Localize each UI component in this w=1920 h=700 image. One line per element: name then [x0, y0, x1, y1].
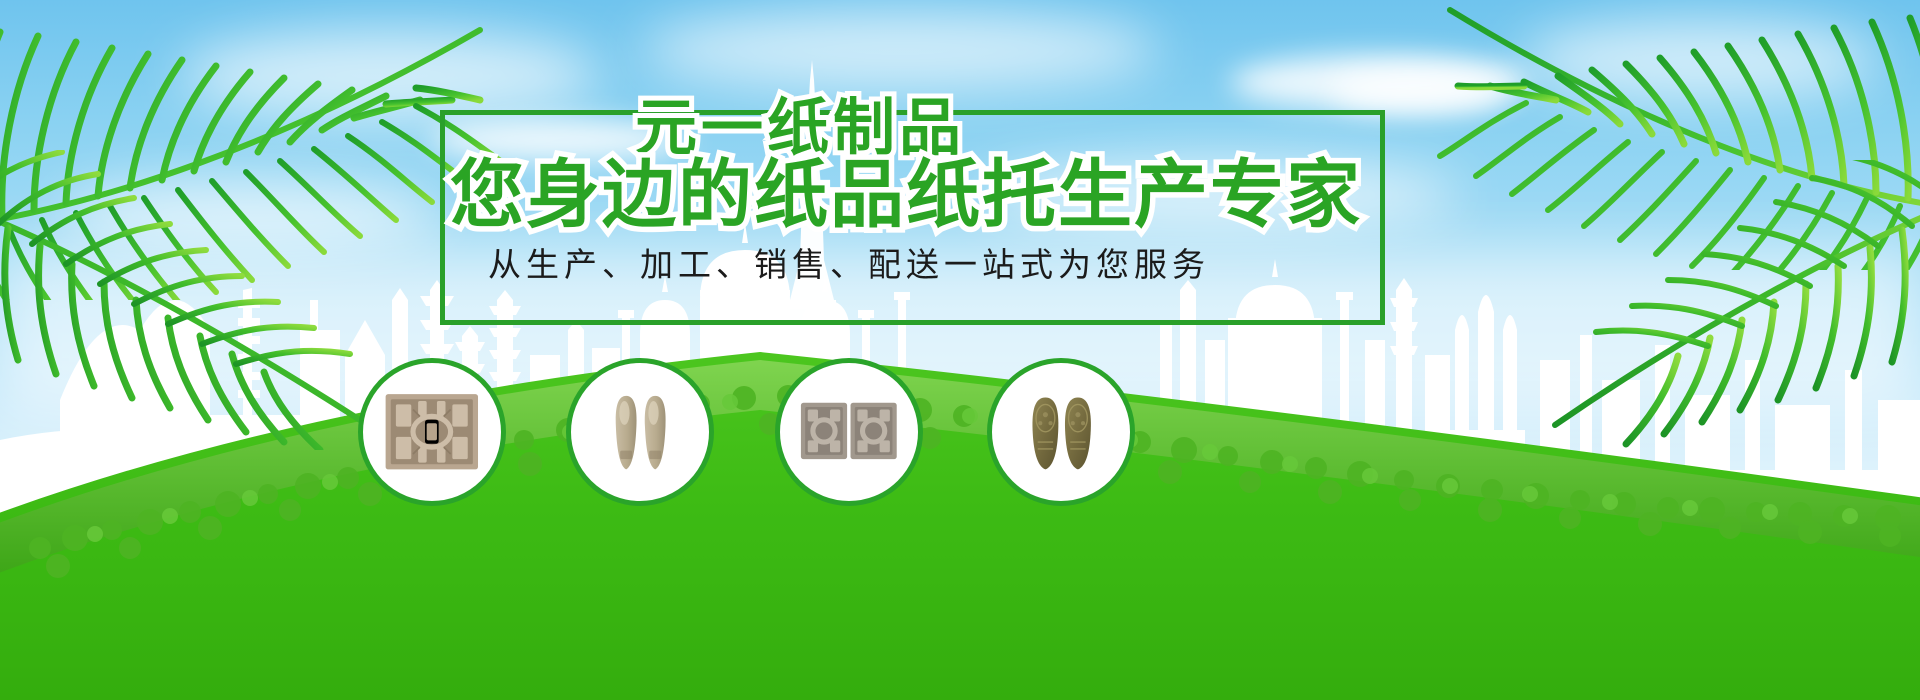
headline-text: 您身边的纸品纸托生产专家 — [450, 153, 1362, 237]
product-circle-2[interactable] — [566, 358, 714, 506]
molded-pulp-dual-corner-trays-icon — [795, 389, 903, 475]
product-circle-4[interactable] — [987, 358, 1135, 506]
product-circle-3[interactable] — [775, 358, 923, 506]
molded-pulp-dark-shoe-trees-icon — [1007, 389, 1115, 475]
palm-frond-icon — [1550, 160, 1920, 460]
subtitle-text: 从生产、加工、销售、配送一站式为您服务 — [488, 243, 1210, 287]
molded-pulp-shoe-trees-icon — [586, 389, 694, 475]
product-circle-1[interactable] — [358, 358, 506, 506]
promo-banner: 元一纸制品 您身边的纸品纸托生产专家 从生产、加工、销售、配送一站式为您服务 — [0, 0, 1920, 700]
palm-frond-icon — [0, 150, 370, 450]
molded-pulp-square-tray-icon — [378, 389, 486, 475]
